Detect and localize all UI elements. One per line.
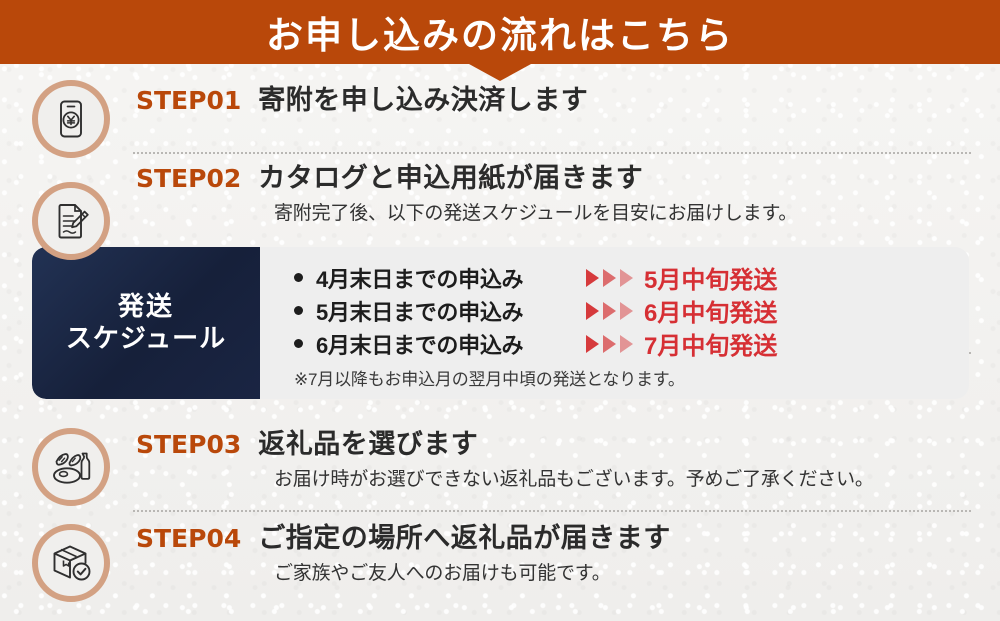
step-sub-3: お届け時がお選びできない返礼品もございます。予めご了承ください。 bbox=[274, 464, 874, 491]
schedule-badge-line1: 発送 bbox=[118, 291, 174, 323]
step-icon-circle-1 bbox=[32, 80, 110, 158]
step-sub-4: ご家族やご友人へのお届けも可能です。 bbox=[274, 558, 671, 585]
header-banner: お申し込みの流れはこちら bbox=[0, 0, 1000, 64]
delivery-box-check-icon bbox=[49, 541, 93, 585]
step-label-2: STEP02 bbox=[133, 164, 244, 193]
schedule-shipping-month: 7月中旬発送 bbox=[644, 326, 777, 361]
step-title-3: 返礼品を選びます bbox=[258, 422, 478, 461]
step-title-4: ご指定の場所へ返礼品が届きます bbox=[258, 516, 671, 555]
schedule-item: 5月末日までの申込み 6月中旬発送 bbox=[294, 294, 969, 327]
page-root: お申し込みの流れはこちら bbox=[0, 0, 1000, 621]
step-head-1: STEP01 寄附を申し込み決済します bbox=[133, 78, 588, 117]
step-sub-2: 寄附完了後、以下の発送スケジュールを目安にお届けします。 bbox=[274, 198, 797, 225]
step-label-4: STEP04 bbox=[133, 524, 244, 553]
step-row-3: STEP03 返礼品を選びます お届け時がお選びできない返礼品もございます。予め… bbox=[0, 422, 1000, 514]
document-pencil-icon bbox=[49, 199, 93, 243]
step-icon-circle-3 bbox=[32, 428, 110, 506]
step-row-1: STEP01 寄附を申し込み決済します bbox=[0, 78, 1000, 152]
step-divider-3 bbox=[133, 510, 971, 512]
step-text-1: STEP01 寄附を申し込み決済します bbox=[133, 78, 588, 117]
schedule-shipping-month: 6月中旬発送 bbox=[644, 293, 777, 328]
shipping-schedule-card: 発送 スケジュール 4月末日までの申込み 5月中旬発送 5月末日までの申込み 6… bbox=[32, 247, 969, 399]
step-text-2: STEP02 カタログと申込用紙が届きます 寄附完了後、以下の発送スケジュールを… bbox=[133, 156, 797, 225]
schedule-deadline: 6月末日までの申込み bbox=[316, 328, 586, 360]
shipping-schedule-badge: 発送 スケジュール bbox=[32, 247, 260, 399]
schedule-item: 4月末日までの申込み 5月中旬発送 bbox=[294, 261, 969, 294]
bullet-dot-icon bbox=[294, 273, 303, 282]
bullet-dot-icon bbox=[294, 339, 303, 348]
schedule-item: 6月末日までの申込み 7月中旬発送 bbox=[294, 327, 969, 360]
step-label-3: STEP03 bbox=[133, 430, 244, 459]
bullet-dot-icon bbox=[294, 306, 303, 315]
step-icon-circle-2 bbox=[32, 182, 110, 260]
step-row-4: STEP04 ご指定の場所へ返礼品が届きます ご家族やご友人へのお届けも可能です… bbox=[0, 516, 1000, 610]
arrow-triple-right-icon bbox=[586, 335, 633, 353]
step-label-1: STEP01 bbox=[133, 86, 244, 115]
step-head-2: STEP02 カタログと申込用紙が届きます bbox=[133, 156, 797, 195]
shipping-schedule-body: 4月末日までの申込み 5月中旬発送 5月末日までの申込み 6月中旬発送 6月末日… bbox=[260, 247, 969, 399]
arrow-triple-right-icon bbox=[586, 269, 633, 287]
step-text-4: STEP04 ご指定の場所へ返礼品が届きます ご家族やご友人へのお届けも可能です… bbox=[133, 516, 671, 585]
step-head-3: STEP03 返礼品を選びます bbox=[133, 422, 874, 461]
banner-title: お申し込みの流れはこちら bbox=[266, 5, 734, 59]
schedule-deadline: 4月末日までの申込み bbox=[316, 262, 586, 294]
step-divider-1 bbox=[133, 152, 971, 154]
step-icon-circle-4 bbox=[32, 524, 110, 602]
step-title-2: カタログと申込用紙が届きます bbox=[258, 156, 643, 195]
schedule-shipping-month: 5月中旬発送 bbox=[644, 260, 777, 295]
schedule-deadline: 5月末日までの申込み bbox=[316, 295, 586, 327]
schedule-badge-line2: スケジュール bbox=[66, 323, 226, 355]
step-head-4: STEP04 ご指定の場所へ返礼品が届きます bbox=[133, 516, 671, 555]
schedule-note: ※7月以降もお申込月の翌月中頃の発送となります。 bbox=[294, 365, 969, 390]
step-row-2: STEP02 カタログと申込用紙が届きます 寄附完了後、以下の発送スケジュールを… bbox=[0, 156, 1000, 238]
food-gifts-icon bbox=[48, 445, 94, 489]
arrow-triple-right-icon bbox=[586, 302, 633, 320]
step-title-1: 寄附を申し込み決済します bbox=[258, 78, 588, 117]
step-text-3: STEP03 返礼品を選びます お届け時がお選びできない返礼品もございます。予め… bbox=[133, 422, 874, 491]
smartphone-yen-icon bbox=[50, 98, 92, 140]
